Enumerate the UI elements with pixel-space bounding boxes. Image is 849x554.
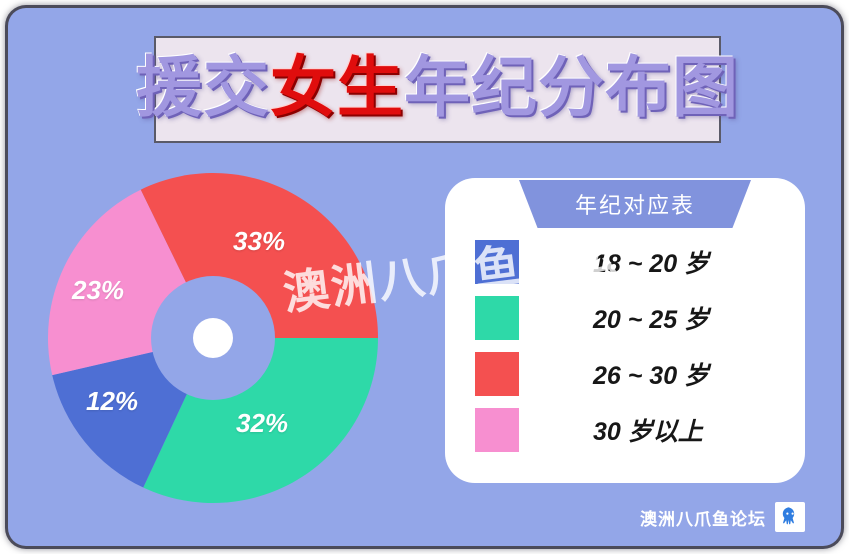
legend-label-26-30: 26 ~ 30 岁	[593, 356, 709, 392]
page-title: 援交女生年纪分布图	[154, 36, 721, 143]
pie-chart	[40, 165, 386, 511]
legend-swatch-26-30	[475, 352, 519, 396]
legend-swatch-18-20	[475, 240, 519, 284]
list-item[interactable]: 20 ~ 25 岁	[445, 290, 805, 346]
title-text: 援交女生年纪分布图	[136, 54, 739, 126]
slice-label-green: 32%	[236, 408, 288, 439]
pie-chart-svg	[40, 165, 386, 511]
legend-header-label: 年纪对应表	[575, 188, 695, 220]
octopus-icon	[775, 502, 805, 532]
list-item[interactable]: 26 ~ 30 岁	[445, 346, 805, 402]
donut-hub	[193, 318, 233, 358]
title-part-2: 女生	[270, 50, 404, 124]
slice-label-blue: 12%	[86, 386, 138, 417]
legend-panel: 年纪对应表 18 ~ 20 岁 20 ~ 25 岁 26 ~ 30 岁 30 岁…	[445, 178, 805, 483]
legend-label-30-plus: 30 岁以上	[593, 412, 703, 448]
slice-label-red: 33%	[233, 226, 285, 257]
slice-label-pink: 23%	[72, 275, 124, 306]
legend-label-20-25: 20 ~ 25 岁	[593, 300, 709, 336]
legend-header-banner: 年纪对应表	[519, 180, 751, 228]
legend-swatch-30-plus	[475, 408, 519, 452]
legend-swatch-20-25	[475, 296, 519, 340]
poster-frame: 援交女生年纪分布图 33% 32% 12% 23% 年纪对应表 18 ~ 20 …	[8, 8, 841, 546]
legend-label-18-20: 18 ~ 20 岁	[593, 244, 709, 280]
title-part-1: 援交	[136, 50, 270, 124]
footer-branding: 澳洲八爪鱼论坛	[640, 502, 805, 532]
list-item[interactable]: 30 岁以上	[445, 402, 805, 458]
footer-site-name: 澳洲八爪鱼论坛	[640, 505, 766, 530]
chart-image: 援交女生年纪分布图 33% 32% 12% 23% 年纪对应表 18 ~ 20 …	[0, 0, 849, 554]
legend-list: 18 ~ 20 岁 20 ~ 25 岁 26 ~ 30 岁 30 岁以上	[445, 234, 805, 458]
list-item[interactable]: 18 ~ 20 岁	[445, 234, 805, 290]
title-part-3: 年纪分布图	[404, 50, 739, 124]
